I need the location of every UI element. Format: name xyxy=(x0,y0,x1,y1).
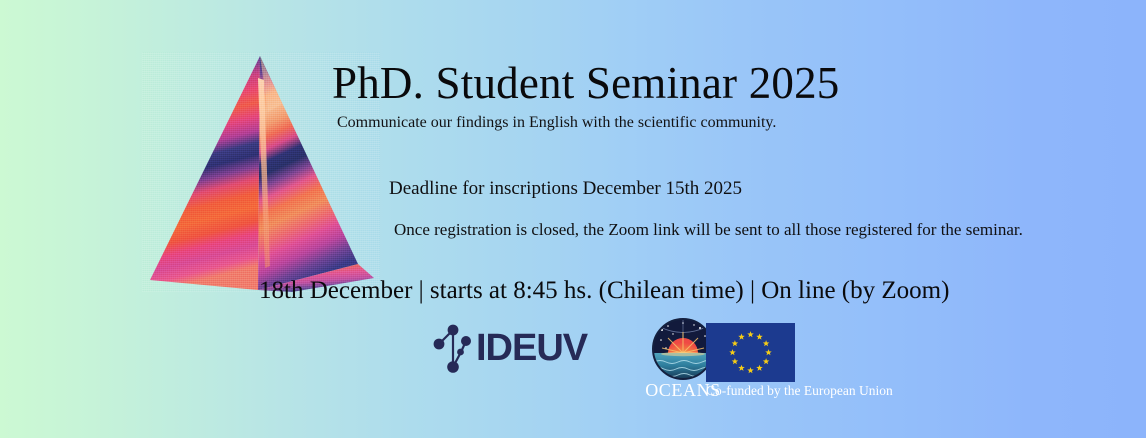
eu-logo: Co-funded by the European Union xyxy=(706,323,901,399)
page-title: PhD. Student Seminar 2025 xyxy=(332,60,840,108)
ideuv-wordmark: IDEUV xyxy=(476,329,587,367)
ideuv-logo: IDEUV xyxy=(428,322,587,374)
eu-caption: Co-funded by the European Union xyxy=(706,384,901,399)
subtitle: Communicate our findings in English with… xyxy=(337,114,776,132)
event-details-line: 18th December | starts at 8:45 hs. (Chil… xyxy=(259,277,949,305)
logo-strip: IDEUV xyxy=(428,316,908,406)
network-nodes-icon xyxy=(428,322,474,374)
tetra-face-left xyxy=(150,56,260,290)
registration-note: Once registration is closed, the Zoom li… xyxy=(394,220,1023,240)
oceans-emblem-icon xyxy=(652,318,714,380)
deadline-text: Deadline for inscriptions December 15th … xyxy=(389,178,742,200)
european-union-flag-icon xyxy=(706,323,795,382)
seminar-banner: PhD. Student Seminar 2025 Communicate ou… xyxy=(0,0,1146,438)
